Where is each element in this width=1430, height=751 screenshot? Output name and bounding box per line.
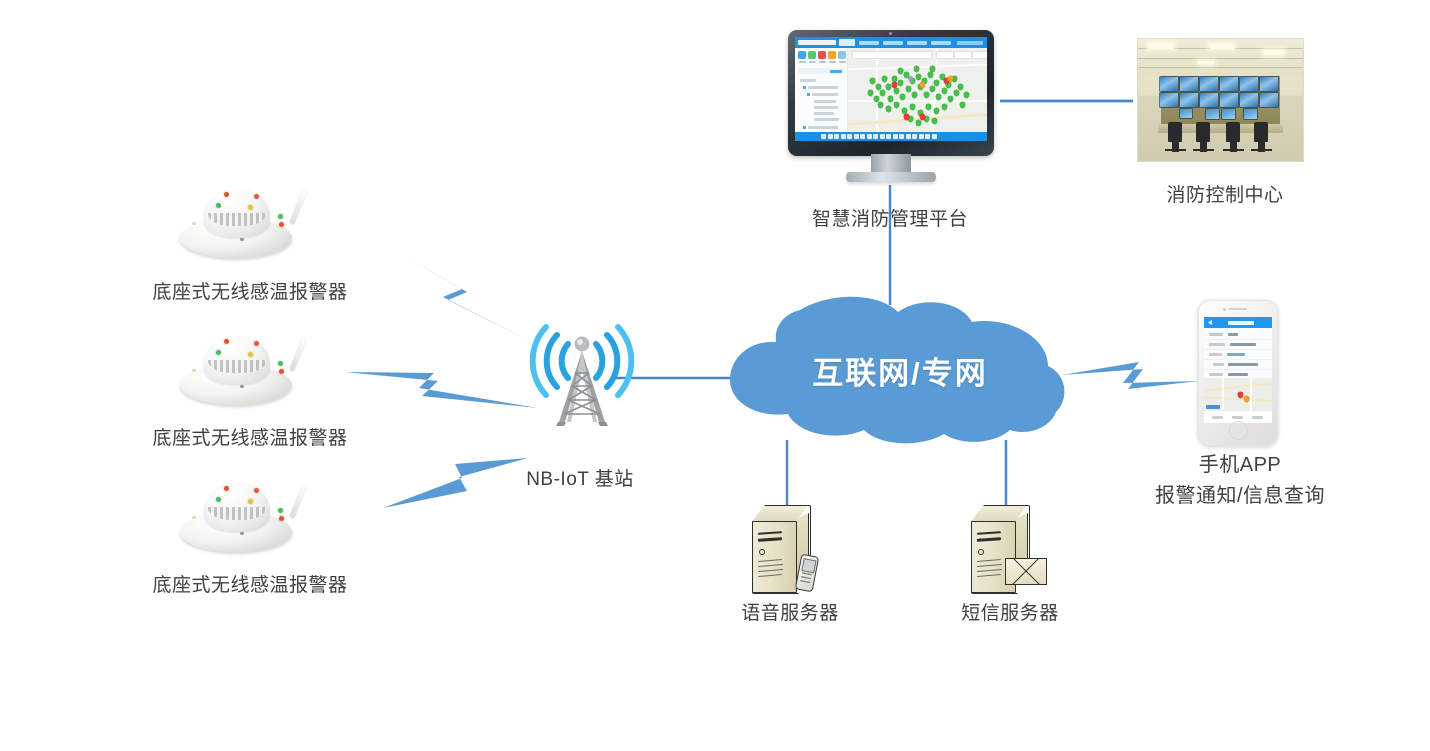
ceiling-light bbox=[1198, 61, 1214, 64]
envelope-overlay-icon bbox=[1005, 558, 1047, 585]
app-menu-2[interactable] bbox=[883, 41, 903, 45]
tree-node[interactable] bbox=[808, 126, 838, 129]
stat-alarm bbox=[818, 51, 826, 63]
led-yellow bbox=[248, 352, 253, 357]
detector-marker bbox=[192, 222, 196, 225]
tree-node[interactable] bbox=[814, 112, 834, 115]
chair bbox=[1226, 122, 1240, 142]
tree-node[interactable] bbox=[814, 118, 839, 121]
tree-node[interactable] bbox=[814, 106, 838, 109]
sensor-node-3[interactable] bbox=[178, 480, 296, 554]
desk-monitor bbox=[1244, 109, 1257, 119]
tree-node[interactable] bbox=[800, 79, 816, 82]
wall-screen bbox=[1160, 93, 1178, 107]
led-red-3 bbox=[279, 222, 284, 227]
led-green bbox=[216, 350, 221, 355]
map-search-input[interactable] bbox=[852, 51, 932, 59]
chair bbox=[1254, 122, 1268, 142]
bolt-cloud-mobile bbox=[1062, 362, 1199, 389]
led-red-3 bbox=[279, 369, 284, 374]
wall-screen bbox=[1240, 93, 1258, 107]
sensor-label-3: 底座式无线感温报警器 bbox=[40, 572, 460, 600]
device-tree-header bbox=[798, 68, 844, 74]
cell-tower-icon bbox=[533, 327, 632, 426]
detail-row bbox=[1204, 330, 1272, 340]
sms-server-node[interactable] bbox=[967, 505, 1045, 597]
wall-screen bbox=[1180, 77, 1198, 91]
desktop-monitor-icon bbox=[788, 30, 994, 185]
platform-node[interactable] bbox=[788, 30, 994, 185]
led-yellow bbox=[248, 205, 253, 210]
tree-bullet bbox=[803, 86, 806, 89]
mobile-label: 手机APP 报警通知/信息查询 bbox=[1100, 450, 1380, 512]
voice-server-label: 语音服务器 bbox=[690, 600, 890, 628]
bolt-sensor2-basestation bbox=[345, 372, 538, 408]
wall-screen bbox=[1200, 93, 1218, 107]
led-red-2 bbox=[254, 488, 259, 493]
led-green-2 bbox=[278, 508, 283, 513]
control-center-node[interactable] bbox=[1138, 39, 1303, 161]
stat-total bbox=[838, 51, 846, 63]
desk-monitor bbox=[1222, 109, 1235, 119]
ceiling-light bbox=[1210, 44, 1234, 49]
stat-online bbox=[798, 51, 806, 63]
app-logo bbox=[798, 40, 836, 45]
tree-node[interactable] bbox=[812, 93, 838, 96]
led-red-2 bbox=[254, 194, 259, 199]
desk-monitor bbox=[1206, 109, 1219, 119]
app-menu-1[interactable] bbox=[859, 41, 879, 45]
phone-speaker bbox=[1229, 308, 1247, 310]
led-yellow bbox=[248, 499, 253, 504]
app-header-bar bbox=[795, 37, 987, 48]
wall-screen bbox=[1220, 93, 1238, 107]
antenna-icon bbox=[289, 190, 307, 225]
home-button[interactable] bbox=[1229, 421, 1248, 440]
wireless-heat-detector-icon bbox=[178, 186, 296, 260]
led-green bbox=[216, 497, 221, 502]
wall-screen bbox=[1200, 77, 1218, 91]
cloud-node: 互联网/专网 bbox=[730, 292, 1070, 448]
tree-node[interactable] bbox=[814, 100, 836, 103]
detector-marker bbox=[192, 516, 196, 519]
sensor-node-1[interactable] bbox=[178, 186, 296, 260]
platform-label: 智慧消防管理平台 bbox=[740, 206, 1040, 234]
tree-bullet bbox=[803, 126, 806, 129]
control-room-photo bbox=[1138, 39, 1303, 161]
detector-marker-2 bbox=[240, 238, 244, 241]
sensor-label-2: 底座式无线感温报警器 bbox=[40, 425, 460, 453]
monitor-stand bbox=[846, 172, 936, 182]
led-red bbox=[224, 486, 229, 491]
detail-row bbox=[1204, 340, 1272, 350]
stat-offline bbox=[808, 51, 816, 63]
app-user-area[interactable] bbox=[957, 41, 983, 45]
sensor-label-1: 底座式无线感温报警器 bbox=[40, 279, 460, 307]
smartphone-icon bbox=[1198, 300, 1278, 446]
ceiling-light bbox=[1264, 50, 1284, 55]
app-menu-4[interactable] bbox=[931, 41, 951, 45]
phone-camera bbox=[1223, 308, 1226, 311]
cloud-label: 互联网/专网 bbox=[730, 292, 1070, 448]
led-green bbox=[216, 203, 221, 208]
led-red bbox=[224, 192, 229, 197]
app-menu-3[interactable] bbox=[907, 41, 927, 45]
tree-node[interactable] bbox=[808, 86, 838, 89]
wall-screen bbox=[1240, 77, 1258, 91]
tree-bullet bbox=[807, 93, 810, 96]
led-red-3 bbox=[279, 516, 284, 521]
sms-server-label: 短信服务器 bbox=[910, 600, 1110, 628]
detail-row bbox=[1204, 360, 1272, 370]
wall-screen bbox=[1220, 77, 1238, 91]
app-dock[interactable] bbox=[795, 132, 987, 141]
chair bbox=[1196, 122, 1210, 142]
map-filter-3[interactable] bbox=[972, 51, 987, 59]
back-icon[interactable] bbox=[1208, 320, 1212, 325]
voice-server-icon bbox=[748, 505, 826, 597]
voice-server-node[interactable] bbox=[748, 505, 826, 597]
detector-marker-2 bbox=[240, 532, 244, 535]
led-red bbox=[224, 339, 229, 344]
topology-diagram: 互联网/专网 NB-IoT 基站 底座式无线感温报警器 bbox=[0, 0, 1430, 751]
ceiling-light bbox=[1148, 43, 1174, 49]
app-title-bar bbox=[1204, 317, 1272, 328]
detail-row bbox=[1204, 350, 1272, 360]
app-active-tab[interactable] bbox=[839, 39, 855, 46]
phone-screen[interactable] bbox=[1204, 317, 1272, 423]
wireless-heat-detector-icon bbox=[178, 333, 296, 407]
monitor-neck bbox=[871, 154, 911, 174]
stat-fault bbox=[828, 51, 836, 63]
sms-server-icon bbox=[967, 505, 1045, 597]
antenna-icon bbox=[289, 337, 307, 372]
app-map[interactable] bbox=[1204, 378, 1272, 411]
wall-screen bbox=[1160, 77, 1178, 91]
wall-screen bbox=[1260, 77, 1278, 91]
map-filter-1[interactable] bbox=[936, 51, 954, 59]
antenna-icon bbox=[289, 484, 307, 519]
detector-marker bbox=[192, 369, 196, 372]
wall-screen bbox=[1260, 93, 1278, 107]
sensor-node-2[interactable] bbox=[178, 333, 296, 407]
wireless-heat-detector-icon bbox=[178, 480, 296, 554]
mobile-node[interactable] bbox=[1198, 300, 1278, 446]
map-filter-2[interactable] bbox=[954, 51, 972, 59]
led-red-2 bbox=[254, 341, 259, 346]
base-station-label: NB-IoT 基站 bbox=[485, 466, 675, 494]
app-sidebar bbox=[795, 48, 848, 141]
led-green-2 bbox=[278, 361, 283, 366]
desk-monitor bbox=[1180, 109, 1192, 118]
platform-screen bbox=[795, 37, 987, 141]
app-map-canvas[interactable] bbox=[848, 48, 987, 132]
control-center-label: 消防控制中心 bbox=[1080, 182, 1370, 210]
led-green-2 bbox=[278, 214, 283, 219]
wall-screen bbox=[1180, 93, 1198, 107]
detector-marker-2 bbox=[240, 385, 244, 388]
monitor-camera-dot bbox=[889, 32, 892, 35]
chair bbox=[1168, 122, 1182, 142]
